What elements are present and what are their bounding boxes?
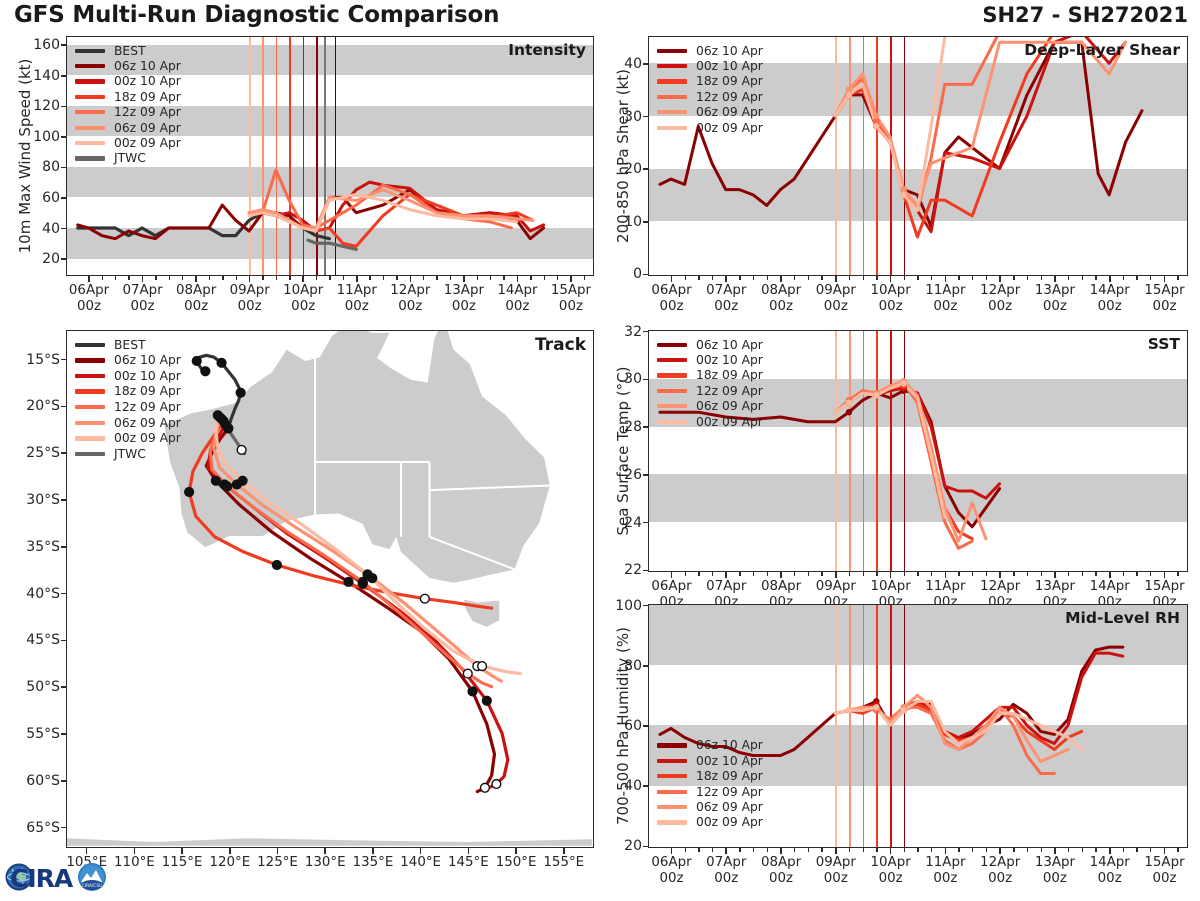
panel-title-shear: Deep-Layer Shear — [1024, 41, 1180, 59]
x-minor-tick — [931, 572, 932, 576]
x-tick-mark — [725, 276, 727, 282]
legend-item: 18z 09 Apr — [657, 769, 763, 784]
legend-item: 12z 09 Apr — [657, 784, 763, 799]
x-minor-tick — [316, 276, 317, 280]
x-tick-mark — [945, 572, 947, 578]
legend-swatch — [75, 405, 105, 409]
legend-item: 06z 10 Apr — [657, 738, 763, 753]
legend-item: BEST — [75, 337, 181, 353]
x-minor-tick — [685, 276, 686, 280]
legend-label: 12z 09 Apr — [114, 106, 181, 118]
x-tick-mark — [671, 276, 673, 282]
legend-swatch — [657, 404, 687, 408]
x-tick-label: 13Apr00z — [1035, 283, 1075, 316]
panel-intensity: IntensityBEST06z 10 Apr00z 10 Apr18z 09 … — [66, 36, 594, 276]
lat-tick-mark — [61, 733, 66, 735]
legend-item: 00z 09 Apr — [657, 414, 763, 429]
series-12z-09-apr — [835, 37, 999, 211]
legend-item: 00z 09 Apr — [75, 431, 181, 447]
y-tick-mark — [61, 136, 66, 138]
x-minor-tick — [794, 848, 795, 852]
legend-label: 18z 09 Apr — [114, 91, 181, 103]
legend-label: 00z 10 Apr — [696, 60, 763, 72]
x-minor-tick — [958, 848, 959, 852]
x-tick-mark — [249, 276, 251, 282]
x-tick-mark — [517, 276, 519, 282]
legend-label: 18z 09 Apr — [696, 75, 763, 87]
x-minor-tick — [436, 276, 437, 280]
legend-swatch — [657, 343, 687, 347]
lon-tick-mark — [229, 848, 231, 854]
series-point — [901, 380, 907, 386]
lon-tick-label: 130°E — [305, 855, 346, 871]
x-minor-tick — [876, 848, 877, 852]
x-minor-tick — [821, 572, 822, 576]
legend-swatch — [75, 421, 105, 425]
legend-swatch — [657, 358, 687, 362]
x-minor-tick — [343, 276, 344, 280]
x-tick-label: 13Apr00z — [1035, 855, 1075, 888]
track-marker — [236, 388, 245, 397]
y-tick-mark — [61, 106, 66, 108]
x-tick-mark — [890, 848, 892, 854]
x-tick-label: 10Apr00z — [871, 855, 911, 888]
y-tick-mark — [643, 168, 648, 170]
x-minor-tick — [209, 276, 210, 280]
legend-label: 06z 09 Apr — [114, 122, 181, 134]
legend-swatch — [657, 95, 687, 99]
x-tick-mark — [835, 572, 837, 578]
legend: BEST06z 10 Apr00z 10 Apr18z 09 Apr12z 09… — [75, 337, 181, 462]
legend-label: 00z 10 Apr — [696, 354, 763, 366]
x-tick-label: 14Apr00z — [497, 283, 537, 316]
lon-tick-mark — [515, 848, 517, 854]
x-minor-tick — [753, 276, 754, 280]
x-tick-label: 15Apr00z — [1144, 283, 1184, 316]
x-minor-tick — [182, 276, 183, 280]
x-minor-tick — [1095, 848, 1096, 852]
track-marker — [344, 577, 353, 586]
x-minor-tick — [1150, 276, 1151, 280]
x-minor-tick — [698, 848, 699, 852]
lat-tick-mark — [61, 686, 66, 688]
x-minor-tick — [1136, 848, 1137, 852]
panel-rh: Mid-Level RH06z 10 Apr00z 10 Apr18z 09 A… — [648, 604, 1188, 848]
lat-tick-label: 55°S — [2, 726, 60, 742]
legend-label: JTWC — [114, 152, 146, 164]
x-minor-tick — [1013, 276, 1014, 280]
x-tick-label: 06Apr00z — [651, 283, 691, 316]
x-minor-tick — [958, 276, 959, 280]
x-minor-tick — [863, 572, 864, 576]
x-minor-tick — [383, 276, 384, 280]
x-minor-tick — [739, 848, 740, 852]
x-tick-label: 13Apr00z — [444, 283, 484, 316]
x-tick-mark — [1109, 572, 1111, 578]
x-minor-tick — [1068, 848, 1069, 852]
x-minor-tick — [753, 572, 754, 576]
legend-item: 00z 10 Apr — [75, 368, 181, 384]
lon-tick-label: 155°E — [543, 855, 584, 871]
x-tick-label: 09Apr00z — [230, 283, 270, 316]
series-point — [846, 92, 852, 98]
lat-tick-mark — [61, 406, 66, 408]
x-minor-tick — [863, 848, 864, 852]
x-minor-tick — [794, 572, 795, 576]
x-tick-label: 12Apr00z — [390, 283, 430, 316]
x-minor-tick — [972, 276, 973, 280]
panel-title-intensity: Intensity — [508, 41, 586, 59]
legend-item: 00z 10 Apr — [75, 74, 181, 89]
legend-label: 06z 09 Apr — [696, 801, 763, 813]
x-minor-tick — [931, 276, 932, 280]
legend-label: 00z 10 Apr — [696, 755, 763, 767]
legend-label: 18z 09 Apr — [696, 369, 763, 381]
x-tick-label: 07Apr00z — [706, 283, 746, 316]
legend-swatch — [657, 743, 687, 747]
x-tick-mark — [671, 572, 673, 578]
lat-tick-label: 20°S — [2, 398, 60, 414]
legend-item: 06z 09 Apr — [657, 799, 763, 814]
y-tick-mark — [643, 331, 648, 333]
legend-swatch — [75, 156, 105, 160]
x-tick-mark — [725, 848, 727, 854]
lat-tick-mark — [61, 359, 66, 361]
x-minor-tick — [1136, 572, 1137, 576]
y-tick-mark — [643, 274, 648, 276]
track-marker — [481, 783, 490, 792]
lon-tick-mark — [372, 848, 374, 854]
x-minor-tick — [821, 848, 822, 852]
x-tick-label: 15Apr00z — [551, 283, 591, 316]
track-marker — [492, 780, 501, 789]
x-minor-tick — [236, 276, 237, 280]
legend-item: 18z 09 Apr — [657, 368, 763, 383]
track-marker — [420, 594, 429, 603]
legend-swatch — [657, 110, 687, 114]
legend-swatch — [75, 343, 105, 347]
legend-label: 06z 10 Apr — [114, 60, 181, 72]
x-minor-tick — [1041, 848, 1042, 852]
x-tick-label: 11Apr00z — [925, 283, 965, 316]
legend-label: 12z 09 Apr — [696, 786, 763, 798]
legend-label: 06z 10 Apr — [696, 45, 763, 57]
lat-tick-mark — [61, 780, 66, 782]
legend-item: 06z 09 Apr — [657, 105, 763, 120]
x-tick-label: 07Apr00z — [706, 855, 746, 888]
series-18z-09-apr — [835, 386, 972, 539]
series-point — [873, 704, 879, 710]
x-minor-tick — [685, 572, 686, 576]
x-tick-mark — [302, 276, 304, 282]
legend-item: 00z 09 Apr — [657, 815, 763, 830]
x-minor-tick — [767, 572, 768, 576]
x-tick-mark — [1109, 276, 1111, 282]
lat-tick-label: 25°S — [2, 445, 60, 461]
legend-label: 00z 09 Apr — [696, 816, 763, 828]
series-point — [846, 707, 852, 713]
legend-item: 00z 10 Apr — [657, 352, 763, 367]
x-minor-tick — [128, 276, 129, 280]
x-minor-tick — [1123, 276, 1124, 280]
x-minor-tick — [155, 276, 156, 280]
lat-tick-label: 15°S — [2, 352, 60, 368]
y-tick-mark — [643, 221, 648, 223]
x-minor-tick — [753, 848, 754, 852]
track-marker — [211, 476, 220, 485]
x-minor-tick — [530, 276, 531, 280]
x-minor-tick — [972, 572, 973, 576]
legend-label: BEST — [114, 45, 146, 57]
x-tick-label: 08Apr00z — [761, 283, 801, 316]
legend-item: 00z 10 Apr — [657, 753, 763, 768]
legend-label: 06z 10 Apr — [696, 739, 763, 751]
x-tick-mark — [463, 276, 465, 282]
lon-tick-label: 120°E — [209, 855, 250, 871]
y-tick-mark — [61, 75, 66, 77]
x-tick-mark — [835, 848, 837, 854]
x-minor-tick — [1041, 572, 1042, 576]
x-minor-tick — [477, 276, 478, 280]
legend-item: 12z 09 Apr — [75, 105, 181, 120]
legend-item: 06z 09 Apr — [75, 120, 181, 135]
y-axis-label: 10m Max Wind Speed (kt) — [16, 36, 34, 276]
x-minor-tick — [369, 276, 370, 280]
legend-swatch — [657, 79, 687, 83]
x-minor-tick — [986, 276, 987, 280]
track-marker — [185, 488, 194, 497]
x-minor-tick — [849, 276, 850, 280]
series-point — [901, 707, 907, 713]
x-tick-mark — [1164, 848, 1166, 854]
legend-label: 12z 09 Apr — [696, 385, 763, 397]
lat-tick-mark — [61, 640, 66, 642]
legend-item: 12z 09 Apr — [75, 399, 181, 415]
legend-label: 00z 09 Apr — [114, 432, 181, 444]
lon-tick-mark — [277, 848, 279, 854]
x-minor-tick — [931, 848, 932, 852]
x-tick-mark — [671, 848, 673, 854]
track-marker — [273, 561, 282, 570]
x-minor-tick — [1150, 848, 1151, 852]
legend-swatch — [75, 436, 105, 440]
y-tick-mark — [643, 116, 648, 118]
legend-swatch — [657, 389, 687, 393]
x-tick-mark — [570, 276, 572, 282]
legend-label: 00z 09 Apr — [696, 416, 763, 428]
legend-item: 06z 10 Apr — [75, 58, 181, 73]
x-minor-tick — [849, 848, 850, 852]
lon-tick-mark — [468, 848, 470, 854]
y-tick-mark — [61, 167, 66, 169]
y-tick-mark — [643, 379, 648, 381]
legend-label: BEST — [114, 339, 146, 351]
lon-tick-label: 150°E — [496, 855, 537, 871]
x-tick-mark — [835, 276, 837, 282]
legend-label: 12z 09 Apr — [696, 91, 763, 103]
x-tick-label: 12Apr00z — [980, 855, 1020, 888]
x-tick-label: 06Apr00z — [69, 283, 109, 316]
x-minor-tick — [808, 276, 809, 280]
legend-swatch — [75, 49, 105, 53]
lat-tick-label: 50°S — [2, 679, 60, 695]
legend-swatch — [75, 141, 105, 145]
track-marker — [237, 445, 246, 454]
x-minor-tick — [1177, 572, 1178, 576]
y-tick-mark — [643, 570, 648, 572]
series-18z-09-apr — [835, 37, 1054, 237]
x-tick-label: 08Apr00z — [761, 855, 801, 888]
x-minor-tick — [276, 276, 277, 280]
x-tick-mark — [780, 276, 782, 282]
x-minor-tick — [958, 572, 959, 576]
lon-tick-mark — [181, 848, 183, 854]
x-minor-tick — [739, 572, 740, 576]
lon-tick-label: 145°E — [448, 855, 489, 871]
lon-tick-label: 110°E — [114, 855, 155, 871]
y-tick-mark — [643, 474, 648, 476]
x-minor-tick — [794, 276, 795, 280]
legend-swatch — [657, 790, 687, 794]
x-minor-tick — [1068, 572, 1069, 576]
x-tick-mark — [142, 276, 144, 282]
x-minor-tick — [1150, 572, 1151, 576]
x-tick-mark — [945, 848, 947, 854]
y-tick-mark — [61, 44, 66, 46]
legend-item: 12z 09 Apr — [657, 383, 763, 398]
x-tick-mark — [1054, 848, 1056, 854]
x-tick-label: 15Apr00z — [1144, 855, 1184, 888]
x-tick-mark — [356, 276, 358, 282]
legend-swatch — [657, 126, 687, 130]
legend-swatch — [657, 64, 687, 68]
x-minor-tick — [1013, 848, 1014, 852]
legend-swatch — [75, 358, 105, 362]
legend-label: 06z 09 Apr — [696, 106, 763, 118]
x-minor-tick — [1027, 276, 1028, 280]
y-axis-label: Sea Surface Temp (°C) — [614, 330, 632, 572]
x-tick-mark — [1164, 572, 1166, 578]
x-tick-label: 10Apr00z — [283, 283, 323, 316]
legend-swatch — [657, 805, 687, 809]
track-marker — [238, 476, 247, 485]
y-tick-mark — [61, 258, 66, 260]
legend-item: JTWC — [75, 446, 181, 462]
legend-swatch — [75, 110, 105, 114]
legend-item: 00z 10 Apr — [657, 58, 763, 73]
x-minor-tick — [423, 276, 424, 280]
y-tick-mark — [643, 846, 648, 848]
legend-label: 18z 09 Apr — [114, 385, 181, 397]
x-minor-tick — [289, 276, 290, 280]
x-minor-tick — [115, 276, 116, 280]
x-tick-mark — [780, 572, 782, 578]
x-minor-tick — [876, 572, 877, 576]
y-tick-mark — [61, 197, 66, 199]
x-minor-tick — [698, 276, 699, 280]
legend-item: 18z 09 Apr — [75, 89, 181, 104]
x-minor-tick — [1177, 276, 1178, 280]
x-tick-label: 11Apr00z — [925, 855, 965, 888]
x-tick-mark — [1054, 572, 1056, 578]
x-minor-tick — [917, 276, 918, 280]
legend-item: 00z 09 Apr — [75, 135, 181, 150]
series-point — [846, 409, 852, 415]
legend-item: BEST — [75, 43, 181, 58]
legend-label: 12z 09 Apr — [114, 401, 181, 413]
antarctica — [67, 838, 592, 845]
svg-text:CIRA/CSU: CIRA/CSU — [82, 883, 103, 889]
panel-track: TrackBEST06z 10 Apr00z 10 Apr18z 09 Apr1… — [66, 330, 594, 848]
legend: 06z 10 Apr00z 10 Apr18z 09 Apr12z 09 Apr… — [657, 337, 763, 429]
lat-tick-mark — [61, 499, 66, 501]
x-minor-tick — [808, 848, 809, 852]
legend-label: JTWC — [114, 448, 146, 460]
x-minor-tick — [863, 276, 864, 280]
panel-title-sst: SST — [1148, 335, 1180, 353]
y-tick-mark — [61, 228, 66, 230]
y-tick-mark — [643, 725, 648, 727]
legend-label: 18z 09 Apr — [696, 770, 763, 782]
x-minor-tick — [904, 572, 905, 576]
x-minor-tick — [767, 848, 768, 852]
x-tick-mark — [890, 276, 892, 282]
x-minor-tick — [1095, 276, 1096, 280]
lon-tick-mark — [420, 848, 422, 854]
x-tick-mark — [1109, 848, 1111, 854]
y-tick-mark — [643, 785, 648, 787]
legend-label: 00z 10 Apr — [114, 75, 181, 87]
x-tick-mark — [780, 848, 782, 854]
cira-logo: CIRA CIRA/CSU — [4, 857, 109, 897]
legend-swatch — [657, 373, 687, 377]
y-tick-mark — [643, 426, 648, 428]
lat-tick-mark — [61, 546, 66, 548]
x-minor-tick — [808, 572, 809, 576]
lat-tick-label: 65°S — [2, 820, 60, 836]
x-minor-tick — [1123, 848, 1124, 852]
track-marker — [482, 696, 491, 705]
x-minor-tick — [1082, 572, 1083, 576]
lat-tick-mark — [61, 452, 66, 454]
series-point — [873, 113, 879, 119]
legend-label: 00z 10 Apr — [114, 370, 181, 382]
legend-item: 18z 09 Apr — [75, 384, 181, 400]
lon-tick-mark — [324, 848, 326, 854]
y-tick-mark — [643, 665, 648, 667]
track-marker — [201, 367, 210, 376]
legend-item: 06z 10 Apr — [75, 353, 181, 369]
page-title: GFS Multi-Run Diagnostic Comparison — [14, 2, 499, 28]
legend-item: 06z 10 Apr — [657, 43, 763, 58]
legend-swatch — [75, 79, 105, 83]
legend-item: 06z 09 Apr — [75, 415, 181, 431]
x-tick-mark — [999, 848, 1001, 854]
series-point — [873, 123, 879, 129]
lat-tick-mark — [61, 827, 66, 829]
x-tick-label: 11Apr00z — [337, 283, 377, 316]
x-minor-tick — [972, 848, 973, 852]
legend-swatch — [657, 759, 687, 763]
x-minor-tick — [584, 276, 585, 280]
legend-swatch — [657, 420, 687, 424]
x-minor-tick — [1027, 848, 1028, 852]
x-tick-label: 10Apr00z — [871, 283, 911, 316]
x-minor-tick — [544, 276, 545, 280]
legend-item: 00z 09 Apr — [657, 120, 763, 135]
track-marker — [463, 669, 472, 678]
x-minor-tick — [767, 276, 768, 280]
